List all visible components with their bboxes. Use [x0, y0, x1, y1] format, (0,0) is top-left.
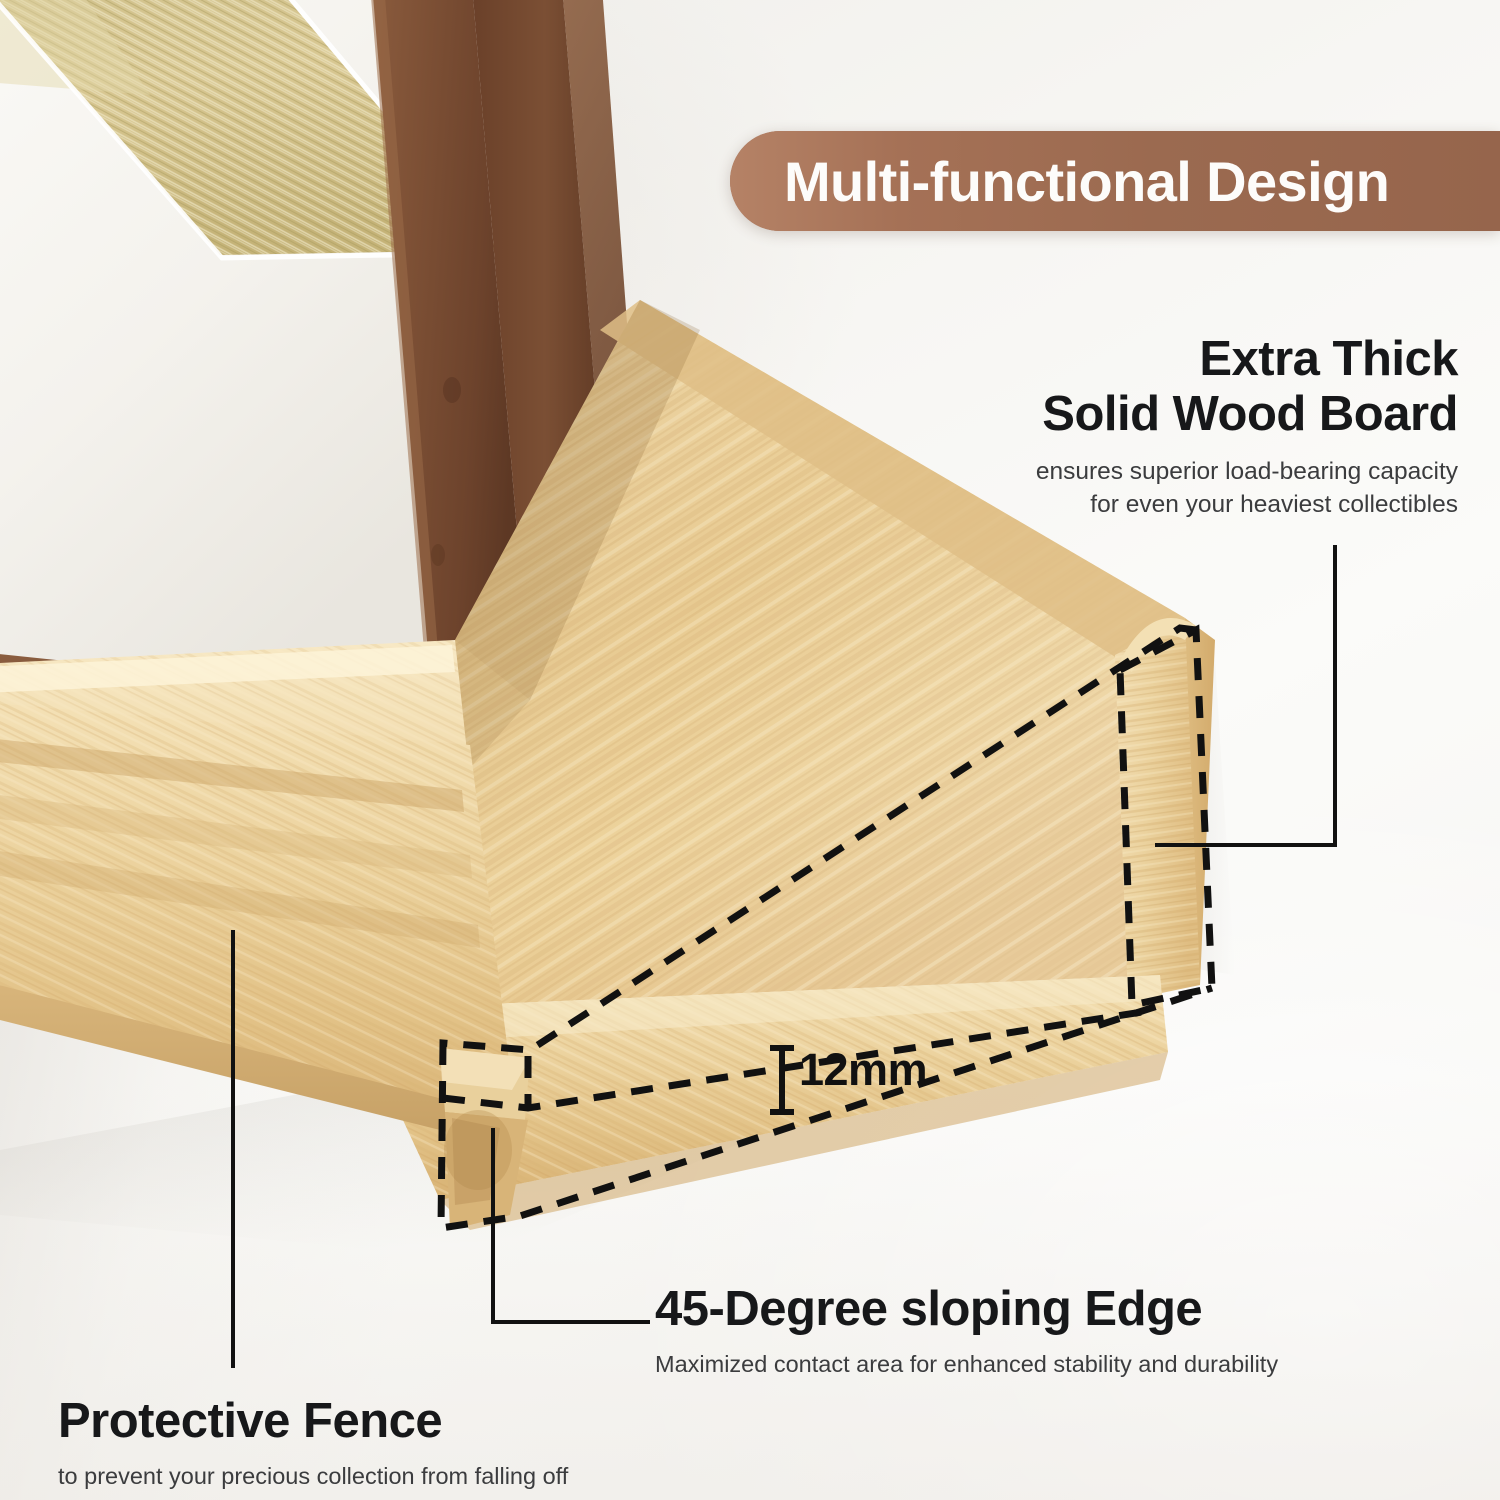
feature-banner: Multi-functional Design — [730, 131, 1500, 231]
dimension-label-12mm: 12mm — [799, 1044, 927, 1096]
callout-heading-line1: Extra Thick — [938, 332, 1458, 387]
callout-subtext-line2: for even your heaviest collectibles — [938, 489, 1458, 522]
callout-sloping-edge: 45-Degree sloping Edge Maximized contact… — [655, 1283, 1355, 1379]
callout-extra-thick: Extra Thick Solid Wood Board ensures sup… — [938, 332, 1458, 521]
callout-heading: 45-Degree sloping Edge — [655, 1283, 1355, 1337]
banner-title: Multi-functional Design — [730, 149, 1389, 214]
callout-heading-line2: Solid Wood Board — [938, 387, 1458, 442]
callout-protective-fence: Protective Fence to prevent your preciou… — [58, 1395, 758, 1491]
callout-heading: Protective Fence — [58, 1395, 758, 1449]
product-feature-image: Multi-functional Design Extra Thick Soli… — [0, 0, 1500, 1500]
callout-subtext: Maximized contact area for enhanced stab… — [655, 1349, 1355, 1380]
callout-subtext: to prevent your precious collection from… — [58, 1461, 758, 1492]
callout-subtext-line1: ensures superior load-bearing capacity — [938, 456, 1458, 489]
